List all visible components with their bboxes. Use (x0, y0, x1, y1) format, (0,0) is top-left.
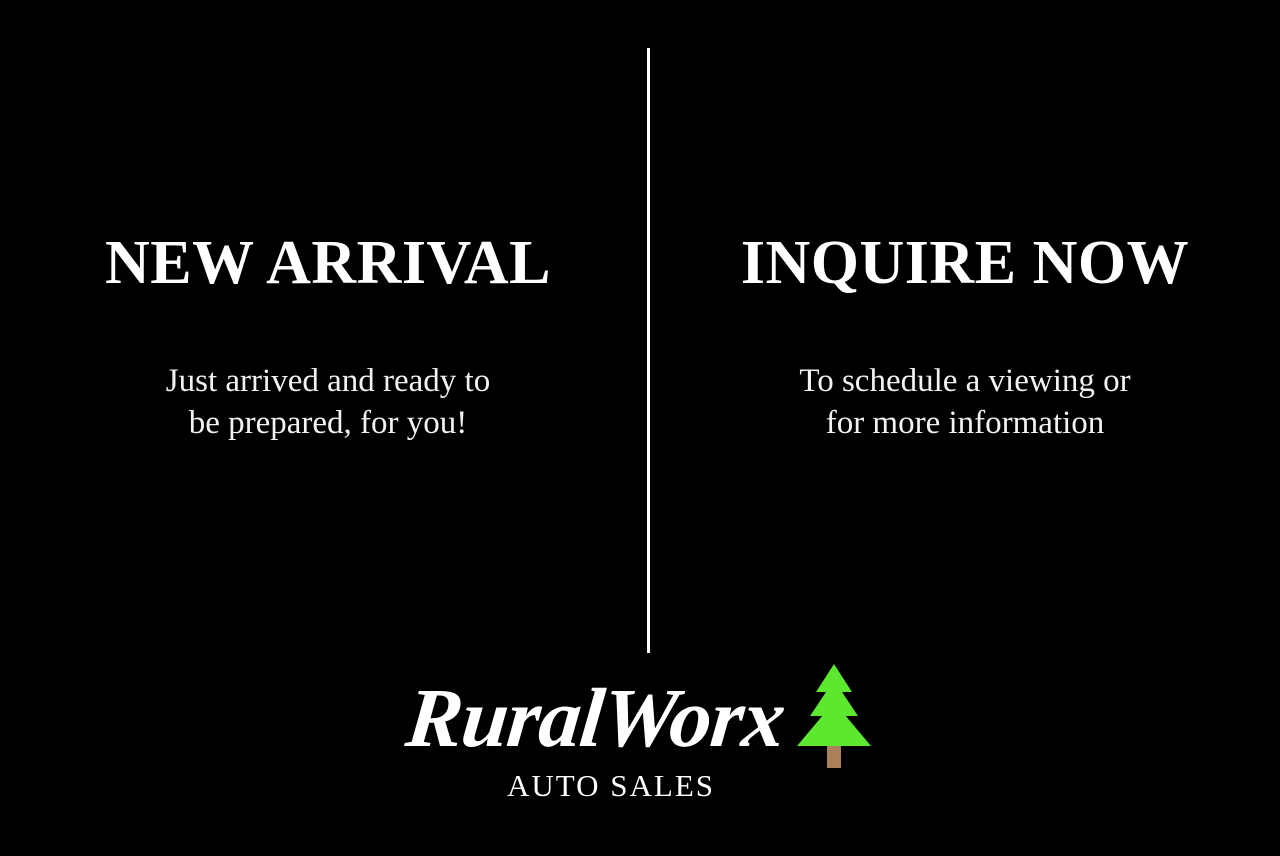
inquire-now-body-line-1: To schedule a viewing or (685, 360, 1245, 402)
inquire-now-body: To schedule a viewing or for more inform… (685, 298, 1245, 444)
panel-inquire-now: INQUIRE NOW To schedule a viewing or for… (685, 228, 1245, 444)
brand-wordmark: RuralWorx (401, 669, 788, 769)
inquire-now-body-line-2: for more information (685, 402, 1245, 444)
panel-new-arrival: NEW ARRIVAL Just arrived and ready to be… (48, 228, 608, 444)
inquire-now-heading: INQUIRE NOW (685, 228, 1245, 298)
vertical-divider (647, 48, 650, 653)
new-arrival-body: Just arrived and ready to be prepared, f… (48, 298, 608, 444)
brand-logo-row: RuralWorx (407, 662, 874, 776)
new-arrival-heading: NEW ARRIVAL (48, 228, 608, 298)
pine-tree-icon (795, 662, 873, 770)
brand-logo: RuralWorx AUTO SALES (0, 662, 1280, 804)
new-arrival-body-line-1: Just arrived and ready to (48, 360, 608, 402)
new-arrival-body-line-2: be prepared, for you! (48, 402, 608, 444)
promo-slide: NEW ARRIVAL Just arrived and ready to be… (0, 0, 1280, 856)
